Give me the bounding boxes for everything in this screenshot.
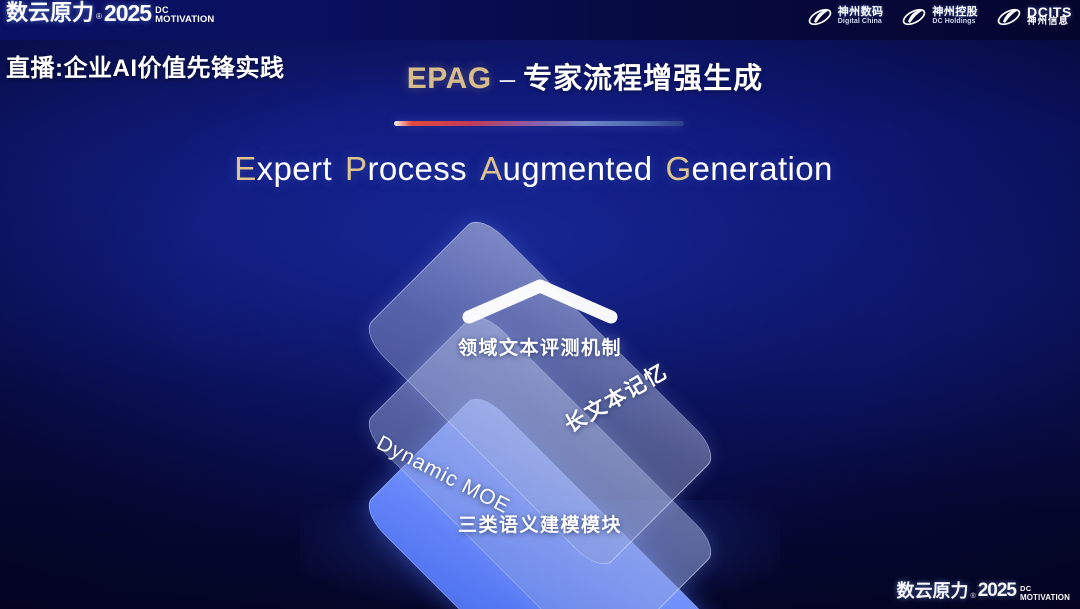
partner-logo-dcits: DCITS 神州信息 [996, 5, 1072, 29]
subtitle-word-cap: G [665, 150, 691, 187]
watermark-logo-year: 2025 [978, 579, 1016, 603]
brand-logo: 数云原力 ® 2025 DC MOTIVATION [6, 1, 214, 25]
brand-logo-year: 2025 [104, 1, 151, 25]
partner-logo-group: 神州数码 Digital China 神州控股 DC Holdings DCIT… [807, 5, 1072, 29]
watermark-logo-dc: DC [1020, 584, 1070, 593]
subtitle-word: Process [345, 150, 467, 187]
watermark-logo-motivation: MOTIVATION [1020, 593, 1070, 602]
chevron-up-icon [459, 275, 621, 327]
live-title: 直播:企业AI价值先锋实践 [6, 48, 285, 83]
brand-logo-registered-icon: ® [96, 9, 102, 25]
subtitle-word-cap: E [234, 150, 256, 187]
watermark-logo-registered-icon: ® [971, 590, 976, 603]
slide-root: 数云原力 ® 2025 DC MOTIVATION 直播:企业AI价值先锋实践 … [0, 0, 1080, 609]
brand-logo-dc-motivation: DC MOTIVATION [155, 6, 214, 24]
swirl-icon [807, 5, 833, 29]
subtitle-word-rest: ugmented [502, 150, 652, 187]
brand-logo-motivation: MOTIVATION [155, 15, 214, 24]
subtitle-word-cap: A [480, 150, 502, 187]
swirl-icon [901, 5, 927, 29]
subtitle-word: Expert [234, 150, 332, 187]
partner-name-cn: 神州控股 [932, 7, 978, 17]
partner-name-en: Digital China [838, 17, 884, 27]
page-title-chinese: 专家流程增强生成 [523, 63, 763, 95]
brand-logo-cn: 数云原力 [6, 1, 94, 25]
subtitle-word: Generation [665, 150, 832, 187]
subtitle-word-rest: xpert [257, 150, 332, 187]
partner-name-en: DC Holdings [932, 17, 978, 27]
title-divider [394, 121, 684, 126]
partner-name-cn: 神州信息 [1027, 17, 1072, 27]
swirl-icon [996, 5, 1022, 29]
subtitle-word-rest: eneration [692, 150, 833, 187]
page-title-acronym: EPAG [407, 62, 492, 95]
page-title-dash: – [500, 63, 516, 94]
layer-top-face [360, 213, 721, 574]
subtitle-word-rest: rocess [367, 150, 467, 187]
page-subtitle: ExpertProcessAugmentedGeneration [0, 150, 1080, 188]
watermark-logo-dc-motivation: DC MOTIVATION [1020, 584, 1070, 602]
subtitle-word-cap: P [345, 150, 367, 187]
watermark-logo: 数云原力 ® 2025 DC MOTIVATION [897, 579, 1070, 603]
subtitle-word: Augmented [480, 150, 652, 187]
layer-top [370, 223, 710, 563]
partner-logo-digital-china: 神州数码 Digital China [807, 5, 884, 29]
watermark-logo-cn: 数云原力 [897, 579, 969, 603]
partner-logo-dc-holdings: 神州控股 DC Holdings [901, 5, 978, 29]
partner-name-cn: 神州数码 [838, 7, 884, 17]
